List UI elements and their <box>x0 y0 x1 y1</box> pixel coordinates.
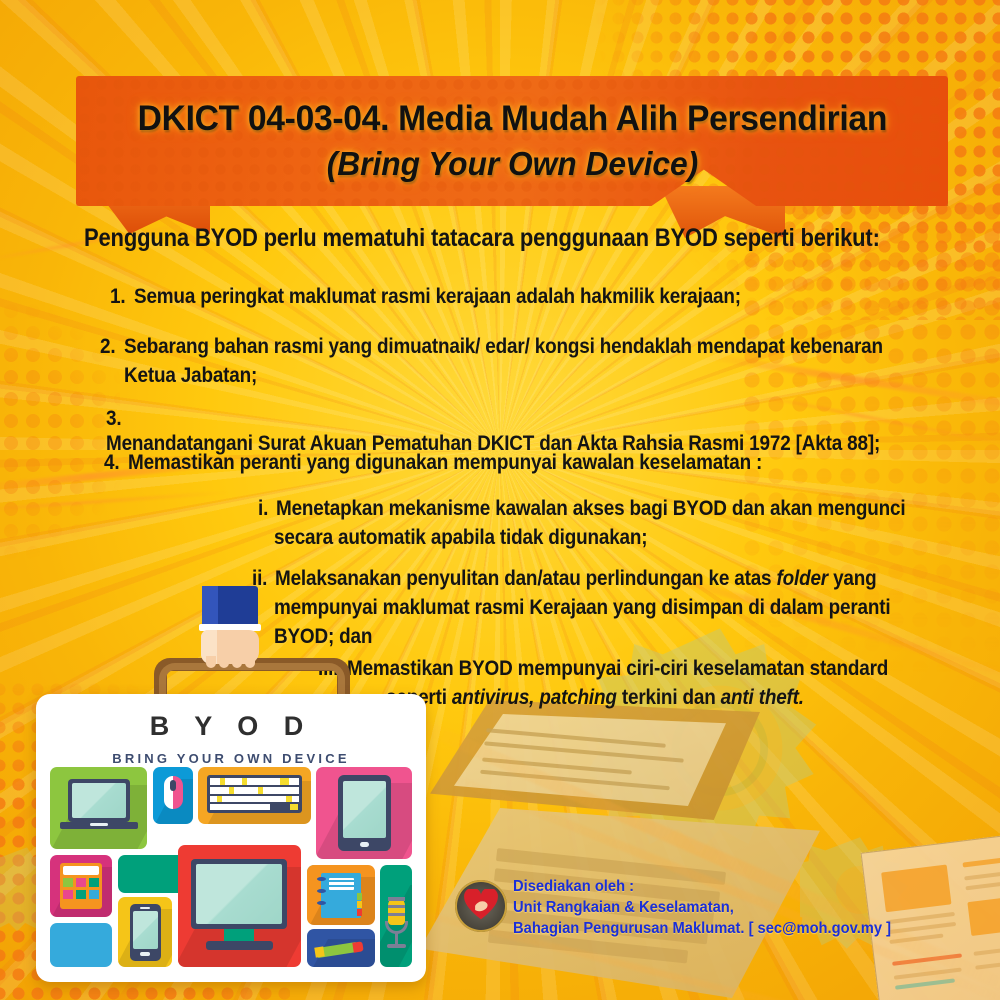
sub-text-part: yang <box>828 566 877 590</box>
sub-list-item: i. Menetapkan mekanisme kawalan akses ba… <box>258 496 991 550</box>
list-item-number: 1. <box>110 284 125 309</box>
tablet-icon <box>316 767 412 859</box>
byod-card-title: B Y O D <box>36 711 426 742</box>
sub-text-italic: anti theft. <box>721 685 804 709</box>
list-item-text: Semua peringkat maklumat rasmi kerajaan … <box>134 284 741 309</box>
sub-text-part: Melaksanakan penyulitan dan/atau perlind… <box>275 566 776 590</box>
page-subtitle: (Bring Your Own Device) <box>326 145 697 183</box>
list-item: 2. Sebarang bahan rasmi yang dimuatnaik/… <box>100 334 986 388</box>
laptop-icon <box>50 767 147 849</box>
calculator-icon <box>50 855 112 917</box>
sub-list-item-number: i. <box>258 496 268 521</box>
credit-line-2: Unit Rangkaian & Keselamatan, <box>513 897 891 918</box>
sub-list-item-text: Menetapkan mekanisme kawalan akses bagi … <box>276 496 905 521</box>
sub-list-item-text: Memastikan BYOD mempunyai ciri-ciri kese… <box>347 656 888 681</box>
page-title: DKICT 04-03-04. Media Mudah Alih Persend… <box>137 99 886 139</box>
list-item-text: Sebarang bahan rasmi yang dimuatnaik/ ed… <box>124 334 883 359</box>
list-item-number: 2. <box>100 334 115 359</box>
byod-card: B Y O D BRING YOUR OWN DEVICE <box>36 694 426 982</box>
blank-tile <box>118 855 186 893</box>
list-item: 4. Memastikan peranti yang digunakan mem… <box>104 450 848 475</box>
infographic-poster: DKICT 04-03-04. Media Mudah Alih Persend… <box>0 0 1000 1000</box>
keyboard-icon <box>198 767 311 824</box>
sub-text-italic: antivirus, patching <box>452 685 617 709</box>
list-item-text-cont: Ketua Jabatan; <box>124 363 257 388</box>
credit-text: Disediakan oleh : Unit Rangkaian & Kesel… <box>513 876 891 939</box>
title-text-group: DKICT 04-03-04. Media Mudah Alih Persend… <box>76 76 948 206</box>
pencil-icon <box>307 929 375 967</box>
sub-list-item-text-cont: seperti antivirus, patching terkini dan … <box>386 685 804 710</box>
sub-list-item-text: Melaksanakan penyulitan dan/atau perlind… <box>275 566 877 591</box>
blank-tile <box>50 923 112 967</box>
credit-line-1: Disediakan oleh : <box>513 876 891 897</box>
smartphone-icon <box>118 897 172 967</box>
sub-list-item-text-cont: mempunyai maklumat rasmi Kerajaan yang d… <box>274 595 890 620</box>
microphone-icon <box>380 865 412 967</box>
monitor-icon <box>178 845 301 967</box>
credit-block: Disediakan oleh : Unit Rangkaian & Kesel… <box>455 876 935 946</box>
sub-text-part: terkini dan <box>617 685 721 709</box>
credit-line-3: Bahagian Pengurusan Maklumat. [ sec@moh.… <box>513 918 891 939</box>
title-banner: DKICT 04-03-04. Media Mudah Alih Persend… <box>0 36 1000 216</box>
list-item-number: 3. <box>106 406 121 431</box>
notebook-icon <box>307 865 375 925</box>
hand-illustration <box>196 586 266 664</box>
heart-icon <box>464 889 498 921</box>
list-item: 3. Menandatangani Surat Akuan Pematuhan … <box>106 406 1000 456</box>
intro-text: Pengguna BYOD perlu mematuhi tatacara pe… <box>84 224 880 253</box>
byod-card-subtitle: BRING YOUR OWN DEVICE <box>36 751 426 766</box>
list-item: 1. Semua peringkat maklumat rasmi keraja… <box>110 284 823 309</box>
sub-text-italic: folder <box>777 566 829 590</box>
suit-sleeve-highlight <box>202 586 218 626</box>
sub-list-item-text-cont: secara automatik apabila tidak digunakan… <box>274 525 647 550</box>
device-icon-grid <box>50 767 412 967</box>
moh-malaysia-logo <box>455 880 507 932</box>
sub-list-item: ii. Melaksanakan penyulitan dan/atau per… <box>252 566 975 649</box>
mouse-icon <box>153 767 193 824</box>
list-item-number: 4. <box>104 450 119 475</box>
list-item-text: Memastikan peranti yang digunakan mempun… <box>128 450 762 475</box>
